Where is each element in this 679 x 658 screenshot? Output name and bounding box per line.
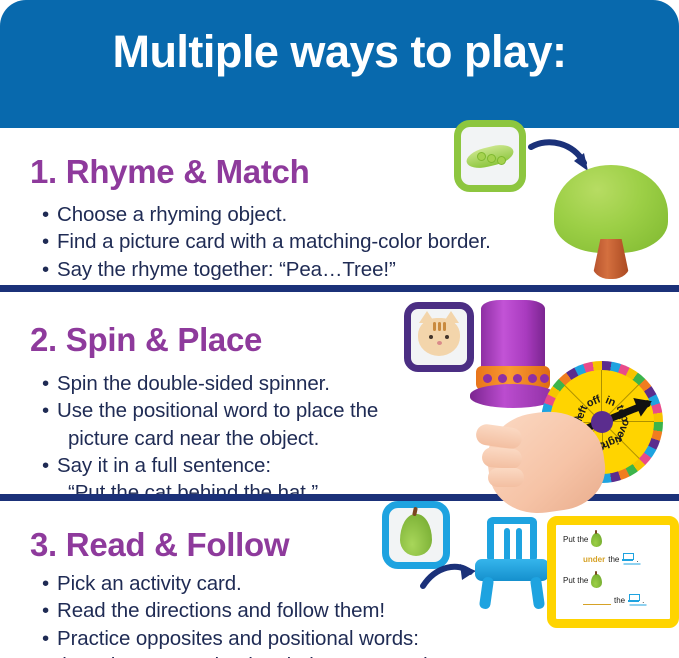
- list-item: Say the rhyme together: “Pea…Tree!”: [42, 256, 491, 283]
- activity-text: the: [608, 555, 619, 564]
- chair-icon: [628, 594, 639, 607]
- list-item: Use the positional word to place the: [42, 397, 378, 424]
- pear-icon: [591, 574, 602, 588]
- page-title: Multiple ways to play:: [0, 28, 679, 75]
- activity-text: the: [614, 596, 625, 605]
- header-banner: Multiple ways to play:: [0, 0, 679, 128]
- hand-image: [474, 390, 619, 515]
- activity-card-line-1: Put the: [563, 533, 663, 547]
- cat-picture-card: [404, 302, 474, 372]
- section-1-heading: 1. Rhyme & Match: [30, 153, 309, 191]
- pea-picture-card: [454, 120, 526, 192]
- chair-icon: [622, 553, 633, 566]
- list-item: Spin the double-sided spinner.: [42, 370, 378, 397]
- fill-in-blank: [583, 597, 611, 605]
- pear-icon: [591, 533, 602, 547]
- activity-text: Put the: [563, 576, 588, 585]
- list-item: Say it in a full sentence:: [42, 452, 378, 479]
- list-item: Find a picture card with a matching-colo…: [42, 228, 491, 255]
- section-divider: [0, 285, 679, 292]
- section-3-heading: 3. Read & Follow: [30, 526, 289, 564]
- list-item: Read the directions and follow them!: [42, 597, 507, 624]
- list-item: Choose a rhyming object.: [42, 201, 491, 228]
- pear-picture-card: [382, 501, 450, 569]
- activity-text: Put the: [563, 535, 588, 544]
- positional-word: under: [583, 555, 605, 564]
- pea-pod-icon: [466, 143, 514, 169]
- tree-toy-image: [552, 165, 670, 280]
- list-item-continuation: “Put the cat behind the hat.”: [42, 479, 378, 506]
- chair-toy-image: [473, 517, 551, 609]
- closing-quote: “Place the pear under the chair… now put…: [42, 652, 507, 658]
- activity-card-line-1b: under the .: [563, 553, 663, 566]
- pear-icon: [400, 514, 432, 556]
- activity-card-line-2: Put the: [563, 574, 663, 588]
- cat-face-icon: [418, 318, 460, 356]
- activity-period: .: [636, 555, 638, 564]
- activity-card-line-2b: the .: [563, 594, 663, 607]
- activity-card: Put the under the . Put the the .: [547, 516, 679, 628]
- activity-period: .: [642, 596, 644, 605]
- list-item-continuation: picture card near the object.: [42, 425, 378, 452]
- arrow-pear-to-chair-icon: [420, 560, 480, 596]
- list-item: Practice opposites and positional words:: [42, 625, 507, 652]
- section-2-bullets: Spin the double-sided spinner. Use the p…: [42, 370, 378, 506]
- promo-image-root: Multiple ways to play: 1. Rhyme & Match …: [0, 0, 679, 658]
- section-2-heading: 2. Spin & Place: [30, 321, 262, 359]
- section-1-bullets: Choose a rhyming object. Find a picture …: [42, 201, 491, 283]
